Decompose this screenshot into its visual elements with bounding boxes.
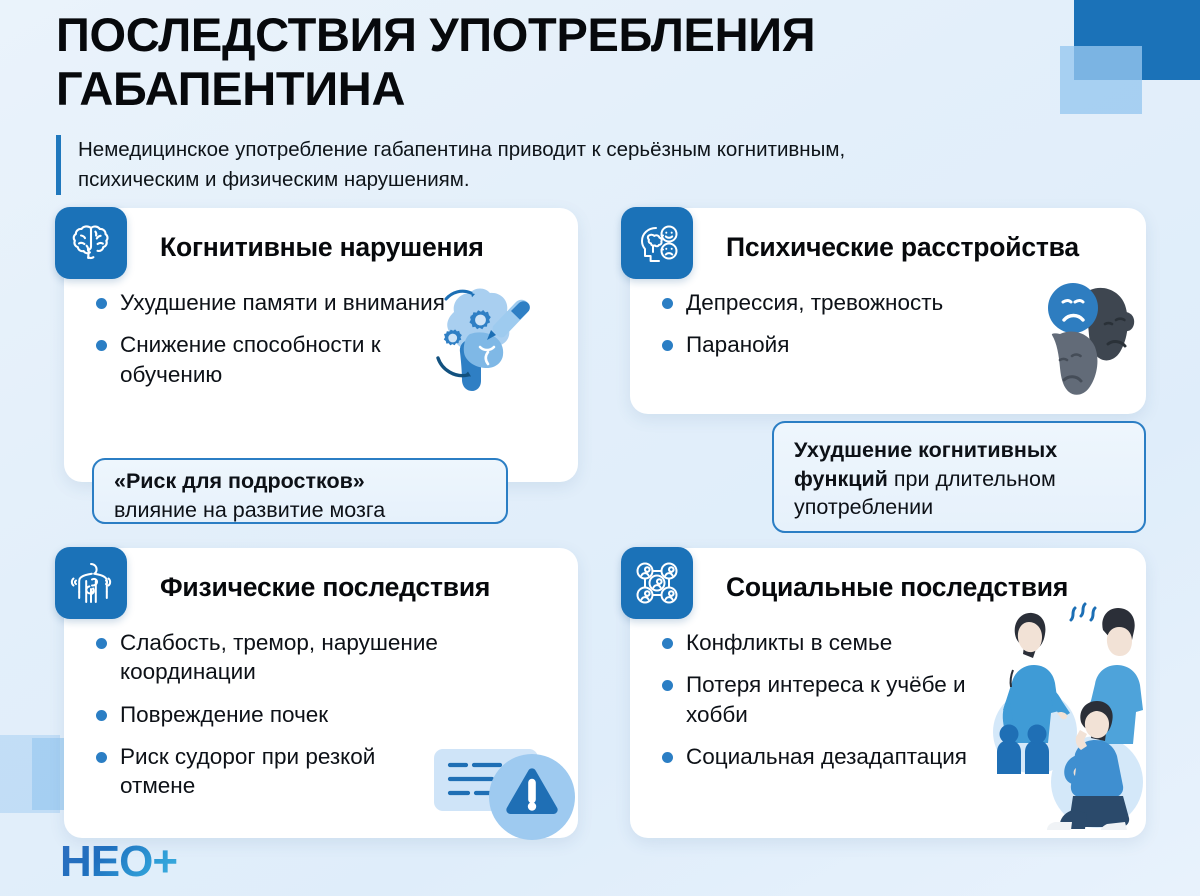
bullet-text: Слабость, тремор, нарушение координации (120, 628, 450, 687)
list-item: Слабость, тремор, нарушение координации (96, 628, 578, 687)
page-title: ПОСЛЕДСТВИЯ УПОТРЕБЛЕНИЯ ГАБАПЕНТИНА (56, 8, 846, 115)
card-social: Социальные последствия Конфликты в семье… (630, 548, 1146, 838)
list-item: Потеря интереса к учёбе и хобби (662, 670, 1146, 729)
bullet-text: Снижение способности к обучению (120, 330, 450, 389)
header: ПОСЛЕДСТВИЯ УПОТРЕБЛЕНИЯ ГАБАПЕНТИНА Нем… (56, 8, 1076, 195)
list-item: Снижение способности к обучению (96, 330, 578, 389)
bullet-text: Ухудшение памяти и внимания (120, 288, 445, 317)
card-social-title: Социальные последствия (726, 572, 1068, 603)
callout-teen-risk: «Риск для подростков» влияние на развити… (92, 458, 508, 524)
bullet-dot-icon (662, 638, 673, 649)
brand-logo: НЕО+ (60, 840, 177, 884)
decor-square-top-right-solid (1074, 0, 1200, 80)
card-mental-header: Психические расстройства (630, 208, 1146, 286)
head-emotions-icon (621, 207, 693, 279)
callout-teen-risk-rest: влияние на развитие мозга (114, 496, 490, 525)
decor-square-bottom-left-light (0, 735, 60, 813)
bullet-text: Паранойя (686, 330, 789, 359)
bullet-dot-icon (96, 340, 107, 351)
list-item: Паранойя (662, 330, 1146, 359)
callout-long-term: Ухудшение когнитивных функций при длител… (772, 421, 1146, 533)
card-mental-bullets: Депрессия, тревожность Паранойя (630, 286, 1146, 360)
list-item: Конфликты в семье (662, 628, 1146, 657)
body-organs-icon (55, 547, 127, 619)
bullet-dot-icon (96, 298, 107, 309)
card-social-header: Социальные последствия (630, 548, 1146, 626)
list-item: Риск судорог при резкой отмене (96, 742, 578, 801)
card-cognitive-header: Когнитивные нарушения (64, 208, 578, 286)
brain-icon (55, 207, 127, 279)
bullet-text: Депрессия, тревожность (686, 288, 943, 317)
bullet-dot-icon (96, 638, 107, 649)
card-cognitive-title: Когнитивные нарушения (160, 232, 484, 263)
card-cognitive: Когнитивные нарушения Ухудшение памяти и… (64, 208, 578, 482)
bullet-text: Повреждение почек (120, 700, 328, 729)
list-item: Повреждение почек (96, 700, 578, 729)
list-item: Ухудшение памяти и внимания (96, 288, 578, 317)
callout-teen-risk-strong: «Риск для подростков» (114, 467, 490, 496)
page-subtitle: Немедицинское употребление габапентина п… (78, 135, 956, 194)
card-physical-title: Физические последствия (160, 572, 490, 603)
bullet-text: Потеря интереса к учёбе и хобби (686, 670, 1006, 729)
list-item: Социальная дезадаптация (662, 742, 1146, 771)
card-physical-header: Физические последствия (64, 548, 578, 626)
card-physical: Физические последствия Слабость, тремор,… (64, 548, 578, 838)
bullet-dot-icon (662, 298, 673, 309)
bullet-text: Социальная дезадаптация (686, 742, 967, 771)
card-mental-title: Психические расстройства (726, 232, 1079, 263)
bullet-dot-icon (96, 752, 107, 763)
bullet-text: Риск судорог при резкой отмене (120, 742, 450, 801)
card-physical-bullets: Слабость, тремор, нарушение координации … (64, 626, 578, 800)
card-cognitive-bullets: Ухудшение памяти и внимания Снижение спо… (64, 286, 578, 389)
callout-long-term-text: Ухудшение когнитивных функций при длител… (794, 436, 1126, 522)
list-item: Депрессия, тревожность (662, 288, 1146, 317)
bullet-dot-icon (662, 752, 673, 763)
bullet-text: Конфликты в семье (686, 628, 892, 657)
bullet-dot-icon (96, 710, 107, 721)
bullet-dot-icon (662, 680, 673, 691)
people-network-icon (621, 547, 693, 619)
subtitle-block: Немедицинское употребление габапентина п… (56, 135, 956, 194)
bullet-dot-icon (662, 340, 673, 351)
card-social-bullets: Конфликты в семье Потеря интереса к учёб… (630, 626, 1146, 771)
card-mental: Психические расстройства Депрессия, трев… (630, 208, 1146, 414)
